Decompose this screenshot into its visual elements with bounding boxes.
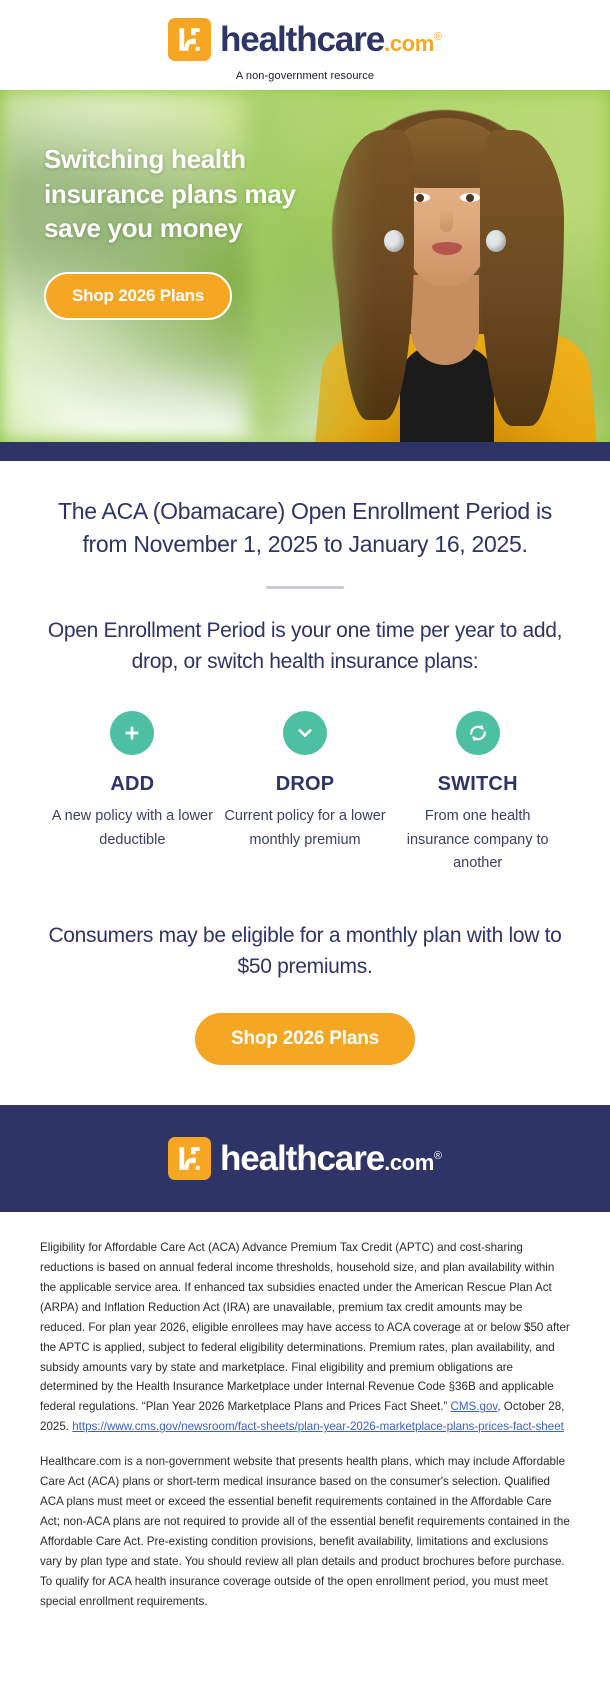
logo-word-primary: healthcare bbox=[220, 22, 384, 57]
main-shop-plans-button[interactable]: Shop 2026 Plans bbox=[195, 1013, 415, 1065]
feature-switch-desc: From one health insurance company to ano… bbox=[395, 805, 560, 875]
sync-icon bbox=[456, 711, 500, 755]
header-logo[interactable]: healthcare .com ® bbox=[0, 18, 610, 61]
features-row: ADD A new policy with a lower deductible… bbox=[46, 711, 564, 875]
legal-paragraph-2: Healthcare.com is a non-government websi… bbox=[40, 1452, 570, 1612]
footer-logo-word-primary: healthcare bbox=[220, 1141, 384, 1176]
logo-word-secondary: .com bbox=[384, 33, 434, 55]
hero-title: Switching health insurance plans may sav… bbox=[44, 142, 314, 246]
registered-mark: ® bbox=[434, 32, 442, 43]
hero-accent-bar bbox=[0, 442, 610, 461]
cms-factsheet-link[interactable]: https://www.cms.gov/newsroom/fact-sheets… bbox=[72, 1420, 564, 1433]
enrollment-headline: The ACA (Obamacare) Open Enrollment Peri… bbox=[46, 495, 564, 560]
pitch-text: Consumers may be eligible for a monthly … bbox=[46, 920, 564, 983]
section-divider bbox=[266, 586, 344, 589]
feature-drop-desc: Current policy for a lower monthly premi… bbox=[223, 805, 388, 852]
enrollment-subhead: Open Enrollment Period is your one time … bbox=[46, 615, 564, 677]
hero-banner: Switching health insurance plans may sav… bbox=[0, 90, 610, 442]
chevron-down-icon bbox=[283, 711, 327, 755]
footer-logo-word-secondary: .com bbox=[384, 1152, 434, 1174]
healthcare-logo-icon-footer bbox=[168, 1137, 211, 1180]
logo-wordmark: healthcare .com ® bbox=[220, 22, 442, 57]
feature-switch-title: SWITCH bbox=[395, 773, 560, 796]
footer-registered-mark: ® bbox=[434, 1151, 442, 1162]
footer-brand-band: healthcare .com ® bbox=[0, 1105, 610, 1212]
legal-p1-text-a: Eligibility for Affordable Care Act (ACA… bbox=[40, 1241, 570, 1414]
hero-content: Switching health insurance plans may sav… bbox=[0, 90, 314, 320]
feature-add: ADD A new policy with a lower deductible bbox=[46, 711, 219, 875]
header-tagline: A non-government resource bbox=[0, 70, 610, 82]
email-page: healthcare .com ® A non-government resou… bbox=[0, 0, 610, 1642]
feature-switch: SWITCH From one health insurance company… bbox=[391, 711, 564, 875]
legal-paragraph-1: Eligibility for Affordable Care Act (ACA… bbox=[40, 1238, 570, 1437]
cms-gov-link[interactable]: CMS.gov bbox=[451, 1400, 498, 1413]
main-content: The ACA (Obamacare) Open Enrollment Peri… bbox=[0, 461, 610, 1105]
footer-logo-wordmark: healthcare .com ® bbox=[220, 1141, 442, 1176]
hero-shop-plans-button[interactable]: Shop 2026 Plans bbox=[44, 272, 232, 320]
feature-drop-title: DROP bbox=[223, 773, 388, 796]
feature-drop: DROP Current policy for a lower monthly … bbox=[219, 711, 392, 875]
plus-icon bbox=[110, 711, 154, 755]
footer-logo[interactable]: healthcare .com ® bbox=[0, 1137, 610, 1180]
feature-add-desc: A new policy with a lower deductible bbox=[50, 805, 215, 852]
healthcare-logo-icon bbox=[168, 18, 211, 61]
email-header: healthcare .com ® A non-government resou… bbox=[0, 0, 610, 90]
feature-add-title: ADD bbox=[50, 773, 215, 796]
legal-disclaimer: Eligibility for Affordable Care Act (ACA… bbox=[0, 1212, 610, 1642]
